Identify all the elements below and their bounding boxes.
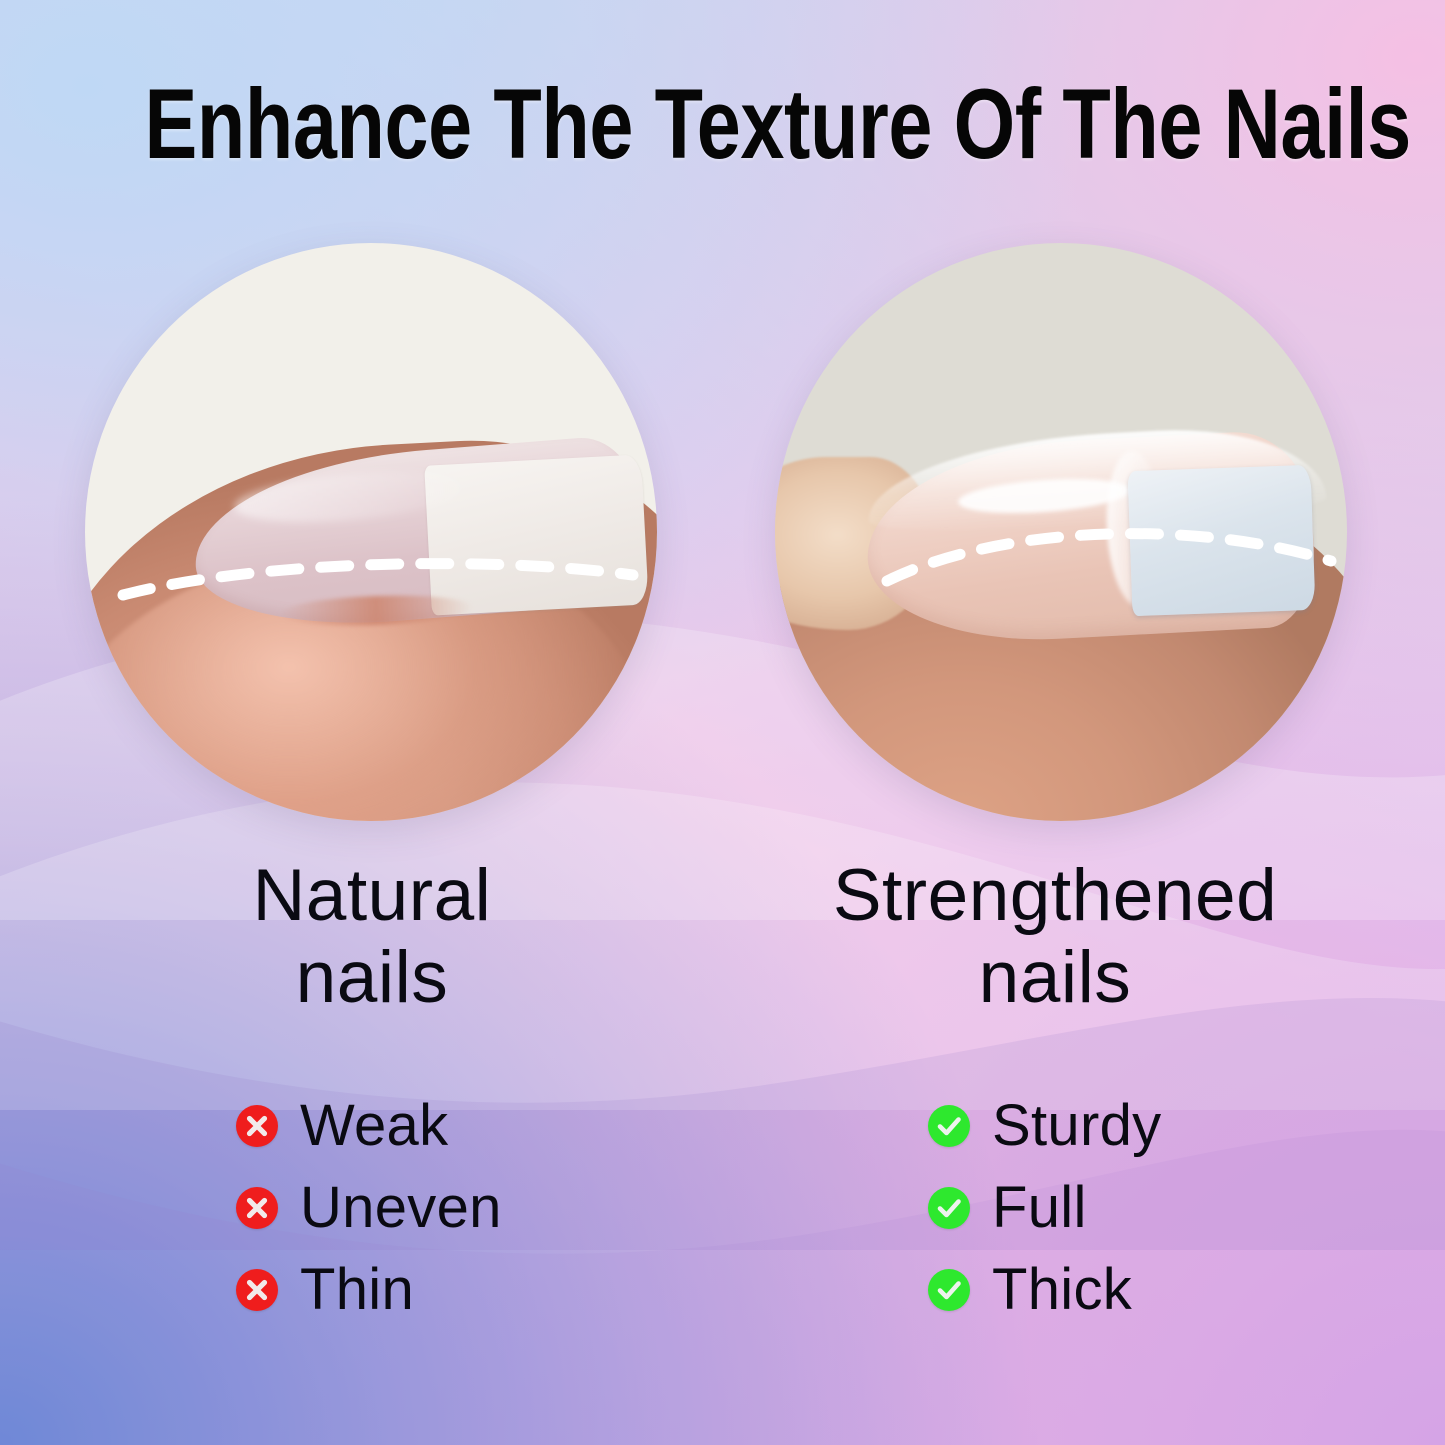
list-item: Uneven [236, 1167, 502, 1249]
caption-natural-line1: Natural [92, 855, 652, 937]
cross-circle-icon [236, 1269, 278, 1311]
list-item-label: Thin [300, 1261, 414, 1319]
list-item-label: Weak [300, 1097, 448, 1155]
caption-strengthened-line2: nails [775, 937, 1335, 1019]
caption-natural-nails: Natural nails [92, 855, 652, 1019]
dashed-level-line-right [775, 243, 1347, 821]
list-item-label: Full [992, 1179, 1087, 1237]
check-circle-icon [928, 1187, 970, 1229]
dashed-level-line-left [85, 243, 657, 821]
caption-natural-line2: nails [92, 937, 652, 1019]
check-circle-icon [928, 1269, 970, 1311]
bullet-list-strengthened: Sturdy Full Thick [928, 1085, 1161, 1331]
check-circle-icon [928, 1105, 970, 1147]
list-item-label: Uneven [300, 1179, 502, 1237]
list-item: Thick [928, 1249, 1161, 1331]
nail-comparison-poster: Enhance The Texture Of The Nails [0, 0, 1445, 1445]
cross-circle-icon [236, 1187, 278, 1229]
list-item-label: Thick [992, 1261, 1132, 1319]
photo-natural-nails [85, 243, 657, 821]
list-item-label: Sturdy [992, 1097, 1161, 1155]
photo-strengthened-nails [775, 243, 1347, 821]
list-item: Weak [236, 1085, 502, 1167]
list-item: Full [928, 1167, 1161, 1249]
cross-circle-icon [236, 1105, 278, 1147]
list-item: Sturdy [928, 1085, 1161, 1167]
caption-strengthened-nails: Strengthened nails [775, 855, 1335, 1019]
bullet-list-natural: Weak Uneven Thin [236, 1085, 502, 1331]
page-title: Enhance The Texture Of The Nails [145, 74, 1301, 173]
caption-strengthened-line1: Strengthened [775, 855, 1335, 937]
list-item: Thin [236, 1249, 502, 1331]
